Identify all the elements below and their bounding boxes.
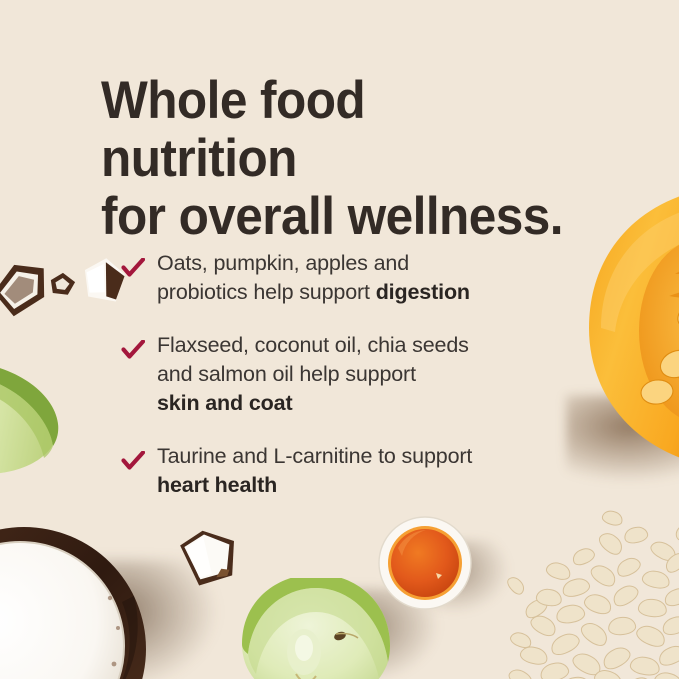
check-icon xyxy=(121,340,145,360)
content-layer: Whole food nutrition for overall wellnes… xyxy=(0,0,679,679)
benefit-item-heart-health: Taurine and L-carnitine to supportheart … xyxy=(121,442,591,500)
check-icon xyxy=(121,258,145,278)
check-icon xyxy=(121,451,145,471)
benefit-item-skin-and-coat: Flaxseed, coconut oil, chia seedsand sal… xyxy=(121,331,591,418)
marketing-image-canvas: Whole food nutrition for overall wellnes… xyxy=(0,0,679,679)
benefit-text: Oats, pumpkin, apples andprobiotics help… xyxy=(157,249,591,307)
benefits-list: Oats, pumpkin, apples andprobiotics help… xyxy=(121,249,591,500)
benefit-text: Flaxseed, coconut oil, chia seedsand sal… xyxy=(157,331,591,418)
benefit-item-digestion: Oats, pumpkin, apples andprobiotics help… xyxy=(121,249,591,307)
benefit-text: Taurine and L-carnitine to supportheart … xyxy=(157,442,591,500)
page-title: Whole food nutrition for overall wellnes… xyxy=(101,72,569,246)
